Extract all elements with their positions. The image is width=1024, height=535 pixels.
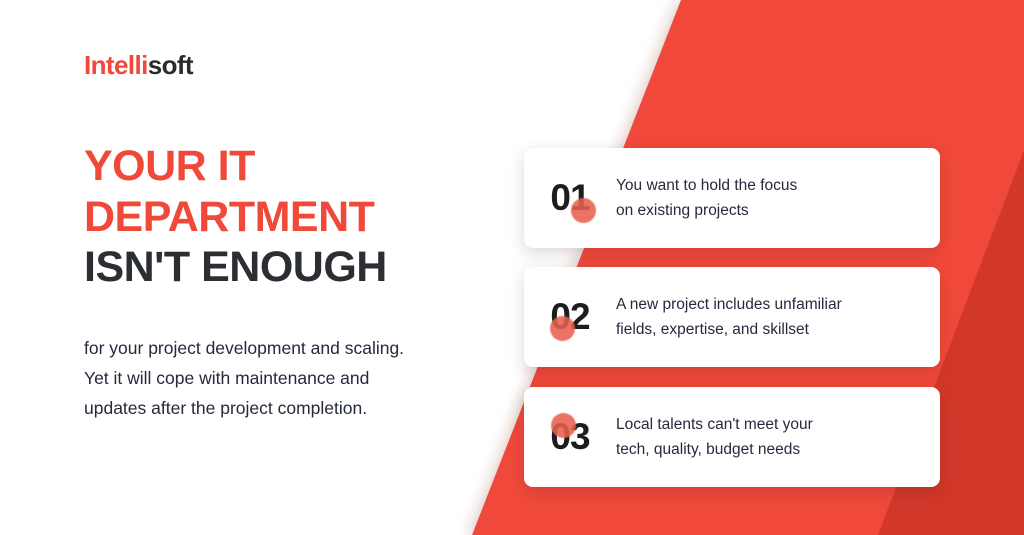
card-text-line-2: fields, expertise, and skillset [616,317,842,342]
card-body: Local talents can't meet your tech, qual… [616,412,829,462]
card-text-line-1: Local talents can't meet your [616,412,813,437]
page-title: YOUR IT DEPARTMENT ISN'T ENOUGH [84,141,484,293]
circle-dot-icon [550,316,575,341]
logo-text-primary: Intelli [84,50,148,80]
card-text-line-2: on existing projects [616,198,797,223]
slide-canvas: Intellisoft YOUR IT DEPARTMENT ISN'T ENO… [0,0,1024,535]
headline-line-3: ISN'T ENOUGH [84,242,484,293]
list-item[interactable]: 03 Local talents can't meet your tech, q… [524,387,940,487]
headline-line-2: DEPARTMENT [84,192,484,243]
logo-text-secondary: soft [148,50,193,80]
card-text-line-2: tech, quality, budget needs [616,437,813,462]
card-text-line-1: A new project includes unfamiliar [616,292,842,317]
card-text-line-1: You want to hold the focus [616,173,797,198]
card-number-group: 01 [524,148,616,248]
circle-dot-icon [551,413,576,438]
headline-line-1: YOUR IT [84,141,484,192]
card-number-group: 03 [524,387,616,487]
card-body: A new project includes unfamiliar fields… [616,292,858,342]
brand-logo[interactable]: Intellisoft [84,50,193,81]
list-item[interactable]: 01 You want to hold the focus on existin… [524,148,940,248]
card-number-group: 02 [524,267,616,367]
list-item[interactable]: 02 A new project includes unfamiliar fie… [524,267,940,367]
subtitle-paragraph: for your project development and scaling… [84,333,414,423]
circle-dot-icon [571,198,596,223]
card-body: You want to hold the focus on existing p… [616,173,813,223]
